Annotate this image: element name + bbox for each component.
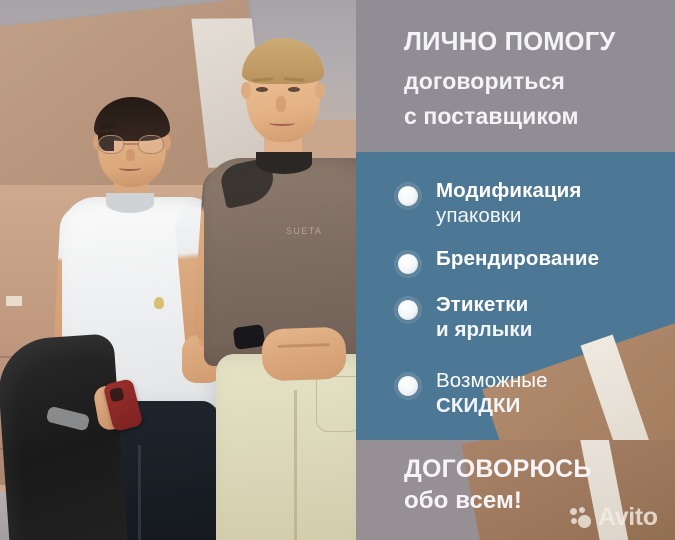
benefit-line-2: упаковки [436,203,675,229]
wristwatch-icon [233,324,266,350]
benefit-line-1: Этикетки [436,293,675,317]
box-label-sticker [6,296,22,306]
person-left-smile [119,165,141,171]
footer-line-2: обо всем! [404,487,522,515]
person-right-nose [276,96,286,112]
person-right-eye [288,87,300,92]
person-right-shirt-print: SUETA [286,226,326,236]
benefit-line-1: Модификация [436,179,675,203]
benefit-line-1: Возможные [436,369,675,393]
benefit-text: Брендирование [436,247,675,271]
person-left-collar [106,193,154,213]
bullet-dot-icon [398,186,418,206]
product-photo: SUETA [0,0,378,540]
benefit-line-2: СКИДКИ [436,393,675,419]
benefit-line-1: Брендирование [436,247,675,271]
person-left-shirt-logo [154,297,164,309]
person-right-clasped-hands [261,327,347,382]
benefits-list: Модификация упаковки Брендирование Этике… [356,152,675,440]
person-right-smile [269,120,295,126]
footer-line-1: ДОГОВОРЮСЬ [404,455,592,484]
headline-line-3: с поставщиком [404,103,579,130]
benefit-text: Модификация упаковки [436,179,675,229]
bullet-dot-icon [398,300,418,320]
bullet-dot-icon [398,376,418,396]
benefit-line-2: и ярлыки [436,317,675,343]
avito-ad-creative: SUETA ЛИЧНО ПОМОГУ договориться с постав… [0,0,675,540]
benefit-text: Возможные СКИДКИ [436,369,675,419]
person-right-collar [256,152,312,174]
person-left-nose [126,149,135,161]
headline-line-2: договориться [404,68,565,95]
benefit-text: Этикетки и ярлыки [436,293,675,343]
person-right-eye [256,87,268,92]
person-right-ear [315,82,325,99]
person-right-hair [242,38,324,84]
person-right: SUETA [212,30,378,540]
avito-dots-icon [570,507,594,529]
person-right-ear [241,82,251,99]
avito-watermark: Avito [570,505,658,530]
black-jacket [0,333,131,540]
bullet-dot-icon [398,254,418,274]
headline-line-1: ЛИЧНО ПОМОГУ [404,28,615,57]
benefits-panel: Модификация упаковки Брендирование Этике… [356,152,675,440]
avito-wordmark: Avito [598,505,658,530]
